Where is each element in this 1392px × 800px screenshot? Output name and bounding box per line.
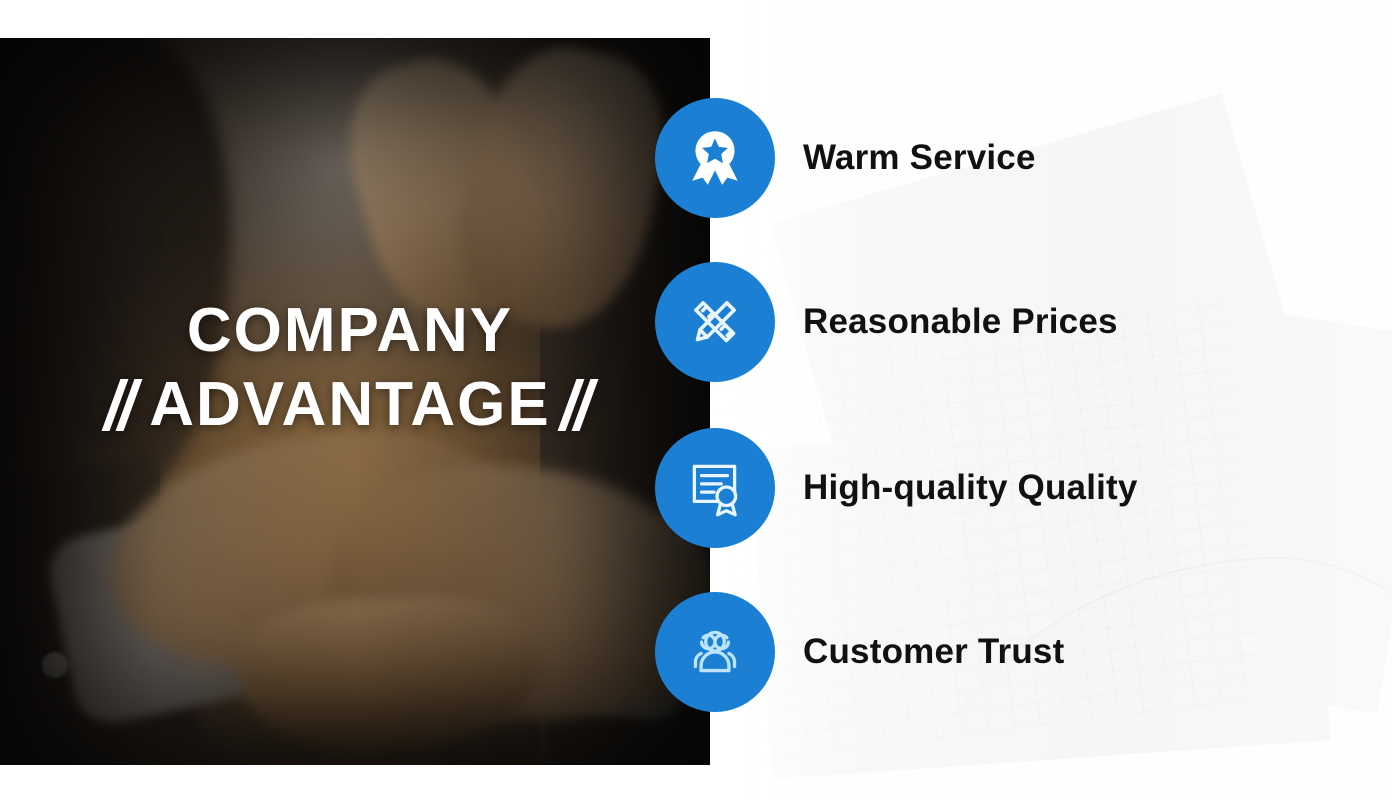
double-slash-left-icon <box>111 377 133 433</box>
pencil-ruler-icon <box>655 262 775 382</box>
feature-item-customer-trust[interactable]: Customer Trust <box>655 592 1064 712</box>
slide-title: COMPANY ADVANTAGE <box>0 300 700 436</box>
feature-item-reasonable-prices[interactable]: Reasonable Prices <box>655 262 1118 382</box>
double-slash-right-icon <box>567 377 589 433</box>
title-line-company: COMPANY <box>0 300 700 362</box>
feature-item-warm-service[interactable]: Warm Service <box>655 98 1036 218</box>
feature-label: High-quality Quality <box>803 468 1138 508</box>
company-advantage-slide: COMPANY ADVANTAGE Warm Service <box>0 0 1392 800</box>
feature-label: Customer Trust <box>803 632 1064 672</box>
title-line-advantage-row: ADVANTAGE <box>0 374 700 436</box>
title-line-advantage: ADVANTAGE <box>149 374 550 436</box>
feature-label: Reasonable Prices <box>803 302 1118 342</box>
people-group-icon <box>655 592 775 712</box>
feature-item-high-quality[interactable]: High-quality Quality <box>655 428 1138 548</box>
award-medal-icon <box>655 98 775 218</box>
feature-label: Warm Service <box>803 138 1036 178</box>
certificate-icon <box>655 428 775 548</box>
